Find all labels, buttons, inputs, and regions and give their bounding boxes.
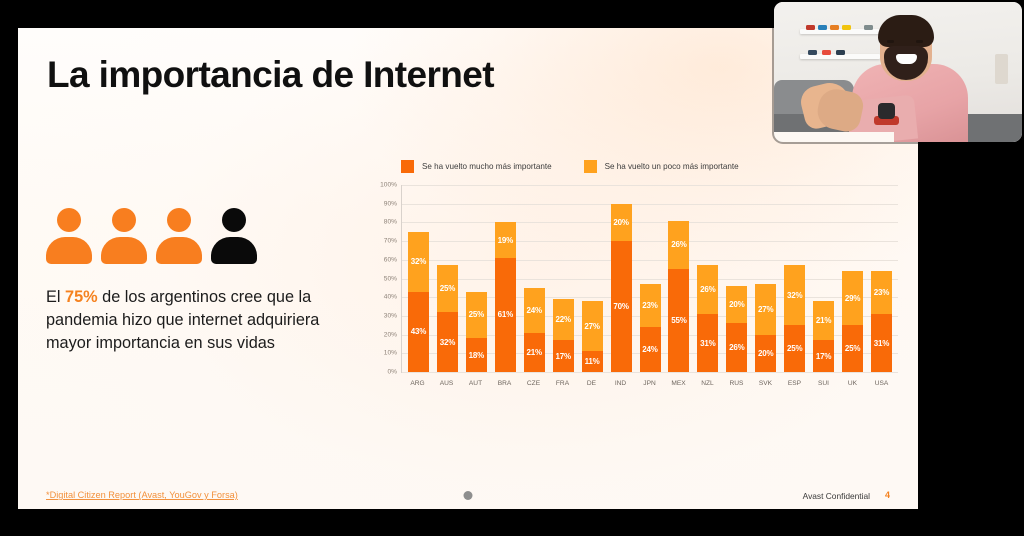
bar-segment: 20% <box>726 286 747 323</box>
bar-value-label: 26% <box>700 285 715 294</box>
bar-value-label: 25% <box>845 344 860 353</box>
bar-segment: 26% <box>697 265 718 314</box>
bar-segment: 20% <box>611 204 632 241</box>
bar-column[interactable]: 32%43% <box>408 185 429 372</box>
bar-value-label: 61% <box>498 310 513 319</box>
person-head-icon <box>222 208 246 232</box>
legend-swatch-much-more <box>401 160 414 173</box>
x-axis-label: CZE <box>523 380 544 387</box>
bar-column[interactable]: 32%25% <box>784 185 805 372</box>
bar-segment: 17% <box>813 340 834 372</box>
bar-column[interactable]: 20%26% <box>726 185 747 372</box>
x-axis-label: NZL <box>697 380 718 387</box>
bar-column[interactable]: 19%61% <box>495 185 516 372</box>
bar-value-label: 24% <box>642 345 657 354</box>
screen-recording-frame: La importancia de Internet El 75% de los… <box>0 0 1024 536</box>
bar-segment: 23% <box>640 284 661 327</box>
toy-car-icon <box>818 25 827 30</box>
bar-value-label: 25% <box>787 344 802 353</box>
bar-column[interactable]: 20%70% <box>611 185 632 372</box>
x-axis-label: DE <box>581 380 602 387</box>
bar-value-label: 25% <box>469 310 484 319</box>
bar-column[interactable]: 25%18% <box>466 185 487 372</box>
toy-car-icon <box>830 25 839 30</box>
bar-value-label: 43% <box>411 327 426 336</box>
x-axis-label: AUS <box>436 380 457 387</box>
video-bottom-edge <box>774 132 894 142</box>
presenter-webcam-overlay[interactable] <box>774 2 1022 142</box>
y-axis-tick: 60% <box>384 256 397 263</box>
toy-car-icon <box>836 50 845 55</box>
person-body-icon <box>156 237 202 264</box>
toy-car-icon <box>864 25 873 30</box>
bar-segment: 25% <box>784 325 805 372</box>
bar-segment: 32% <box>784 265 805 325</box>
toy-car-icon <box>806 25 815 30</box>
x-axis-label: AUT <box>465 380 486 387</box>
bar-segment: 32% <box>437 312 458 372</box>
bar-value-label: 21% <box>816 316 831 325</box>
toy-car-icon <box>842 25 851 30</box>
bar-column[interactable]: 24%21% <box>524 185 545 372</box>
person-icon-1 <box>46 208 92 264</box>
bar-segment: 26% <box>668 221 689 270</box>
bar-value-label: 32% <box>411 257 426 266</box>
bar-value-label: 23% <box>642 301 657 310</box>
bar-column[interactable]: 23%24% <box>640 185 661 372</box>
y-axis-tick: 20% <box>384 331 397 338</box>
confidential-label: Avast Confidential <box>803 491 870 501</box>
bar-value-label: 31% <box>874 339 889 348</box>
person-head-icon <box>57 208 81 232</box>
bar-segment: 32% <box>408 232 429 292</box>
paragraph-before: El <box>46 288 65 306</box>
bar-value-label: 17% <box>555 352 570 361</box>
toy-car-icon <box>822 50 831 55</box>
person-body-icon <box>101 237 147 264</box>
bar-value-label: 21% <box>527 348 542 357</box>
x-axis-label: BRA <box>494 380 515 387</box>
legend-item-much-more: Se ha vuelto mucho más importante <box>401 160 552 173</box>
bar-segment: 19% <box>495 222 516 258</box>
y-axis-tick: 30% <box>384 312 397 319</box>
bar-segment: 25% <box>466 292 487 339</box>
bar-segment: 25% <box>842 325 863 372</box>
bar-segment: 26% <box>726 323 747 372</box>
x-axis-label: USA <box>871 380 892 387</box>
presenter-eye-right <box>916 40 923 43</box>
bar-segment: 24% <box>640 327 661 372</box>
person-head-icon <box>112 208 136 232</box>
legend-item-little-more: Se ha vuelto un poco más importante <box>584 160 739 173</box>
bar-value-label: 32% <box>440 338 455 347</box>
bar-value-label: 26% <box>729 343 744 352</box>
bar-value-label: 27% <box>584 322 599 331</box>
bar-column[interactable]: 26%55% <box>668 185 689 372</box>
bar-segment: 25% <box>437 265 458 312</box>
y-axis-tick: 90% <box>384 200 397 207</box>
x-axis-label: SUI <box>813 380 834 387</box>
people-icon-group <box>46 208 257 264</box>
bar-segment: 31% <box>871 314 892 372</box>
x-axis-label: ARG <box>407 380 428 387</box>
bar-column[interactable]: 25%32% <box>437 185 458 372</box>
x-axis-label: RUS <box>726 380 747 387</box>
bar-value-label: 31% <box>700 339 715 348</box>
bar-value-label: 24% <box>527 306 542 315</box>
person-icon-2 <box>101 208 147 264</box>
smartwatch-icon <box>878 103 895 119</box>
bar-column[interactable]: 29%25% <box>842 185 863 372</box>
x-axis-label: IND <box>610 380 631 387</box>
y-axis-tick: 0% <box>387 369 397 376</box>
toy-car-icon <box>808 50 817 55</box>
bar-value-label: 23% <box>874 288 889 297</box>
person-head-icon <box>167 208 191 232</box>
bar-segment: 21% <box>813 301 834 340</box>
bar-column[interactable]: 21%17% <box>813 185 834 372</box>
bar-value-label: 20% <box>758 349 773 358</box>
bar-segment: 27% <box>582 301 603 351</box>
y-axis-tick: 80% <box>384 219 397 226</box>
bar-value-label: 20% <box>729 300 744 309</box>
y-axis-tick: 100% <box>380 182 397 189</box>
page-number: 4 <box>885 490 890 500</box>
bar-segment: 21% <box>524 333 545 372</box>
legend-label-little-more: Se ha vuelto un poco más importante <box>605 162 739 171</box>
bar-segment: 22% <box>553 299 574 340</box>
bar-segment: 55% <box>668 269 689 372</box>
bar-value-label: 27% <box>758 305 773 314</box>
x-axis-label: FRA <box>552 380 573 387</box>
x-axis-label: JPN <box>639 380 660 387</box>
slide-paragraph: El 75% de los argentinos cree que la pan… <box>46 286 336 355</box>
y-axis-tick: 50% <box>384 275 397 282</box>
bar-segment: 17% <box>553 340 574 372</box>
y-axis-tick: 70% <box>384 238 397 245</box>
slide-title: La importancia de Internet <box>47 54 494 96</box>
bar-segment: 18% <box>466 338 487 372</box>
bar-segment: 27% <box>755 284 776 334</box>
person-body-icon <box>211 237 257 264</box>
bar-segment: 23% <box>871 271 892 314</box>
bar-segment: 43% <box>408 292 429 372</box>
chart-plot-area: 0%10%20%30%40%50%60%70%80%90%100% 32%43%… <box>401 185 898 373</box>
person-body-icon <box>46 237 92 264</box>
y-axis-tick: 40% <box>384 294 397 301</box>
bar-value-label: 29% <box>845 294 860 303</box>
bar-segment: 29% <box>842 271 863 325</box>
presenter-mouth <box>896 54 917 64</box>
chart-bars: 32%43%25%32%25%18%19%61%24%21%22%17%27%1… <box>408 185 892 372</box>
bar-segment: 70% <box>611 241 632 372</box>
bar-value-label: 17% <box>816 352 831 361</box>
paragraph-highlight: 75% <box>65 288 98 306</box>
bar-segment: 11% <box>582 351 603 372</box>
x-axis-label: SVK <box>755 380 776 387</box>
bar-segment: 61% <box>495 258 516 372</box>
x-axis-label: ESP <box>784 380 805 387</box>
door-frame <box>995 54 1008 84</box>
chart-legend: Se ha vuelto mucho más importante Se ha … <box>401 160 739 173</box>
bar-column[interactable]: 27%11% <box>582 185 603 372</box>
gridline <box>402 372 898 373</box>
person-icon-4-dark <box>211 208 257 264</box>
bar-segment: 31% <box>697 314 718 372</box>
legend-swatch-little-more <box>584 160 597 173</box>
bar-value-label: 70% <box>613 302 628 311</box>
bar-column[interactable]: 26%31% <box>697 185 718 372</box>
bar-value-label: 22% <box>555 315 570 324</box>
bar-value-label: 55% <box>671 316 686 325</box>
chart-x-axis-labels: ARGAUSAUTBRACZEFRADEINDJPNMEXNZLRUSSVKES… <box>407 380 892 387</box>
bar-value-label: 19% <box>498 236 513 245</box>
bar-value-label: 11% <box>585 357 600 366</box>
presenter-eye-left <box>887 40 894 43</box>
y-axis-tick: 10% <box>384 350 397 357</box>
stacked-bar-chart: Se ha vuelto mucho más importante Se ha … <box>363 160 898 450</box>
x-axis-label: UK <box>842 380 863 387</box>
bar-column[interactable]: 22%17% <box>553 185 574 372</box>
source-link[interactable]: *Digital Citizen Report (Avast, YouGov y… <box>46 490 238 500</box>
bar-value-label: 26% <box>671 240 686 249</box>
bar-column[interactable]: 23%31% <box>871 185 892 372</box>
bar-segment: 20% <box>755 335 776 372</box>
bar-value-label: 25% <box>440 284 455 293</box>
bar-segment: 24% <box>524 288 545 333</box>
bar-column[interactable]: 27%20% <box>755 185 776 372</box>
bar-value-label: 20% <box>613 218 628 227</box>
slide-nav-dot[interactable] <box>464 491 473 500</box>
bar-value-label: 32% <box>787 291 802 300</box>
x-axis-label: MEX <box>668 380 689 387</box>
person-icon-3 <box>156 208 202 264</box>
bar-value-label: 18% <box>469 351 484 360</box>
legend-label-much-more: Se ha vuelto mucho más importante <box>422 162 552 171</box>
